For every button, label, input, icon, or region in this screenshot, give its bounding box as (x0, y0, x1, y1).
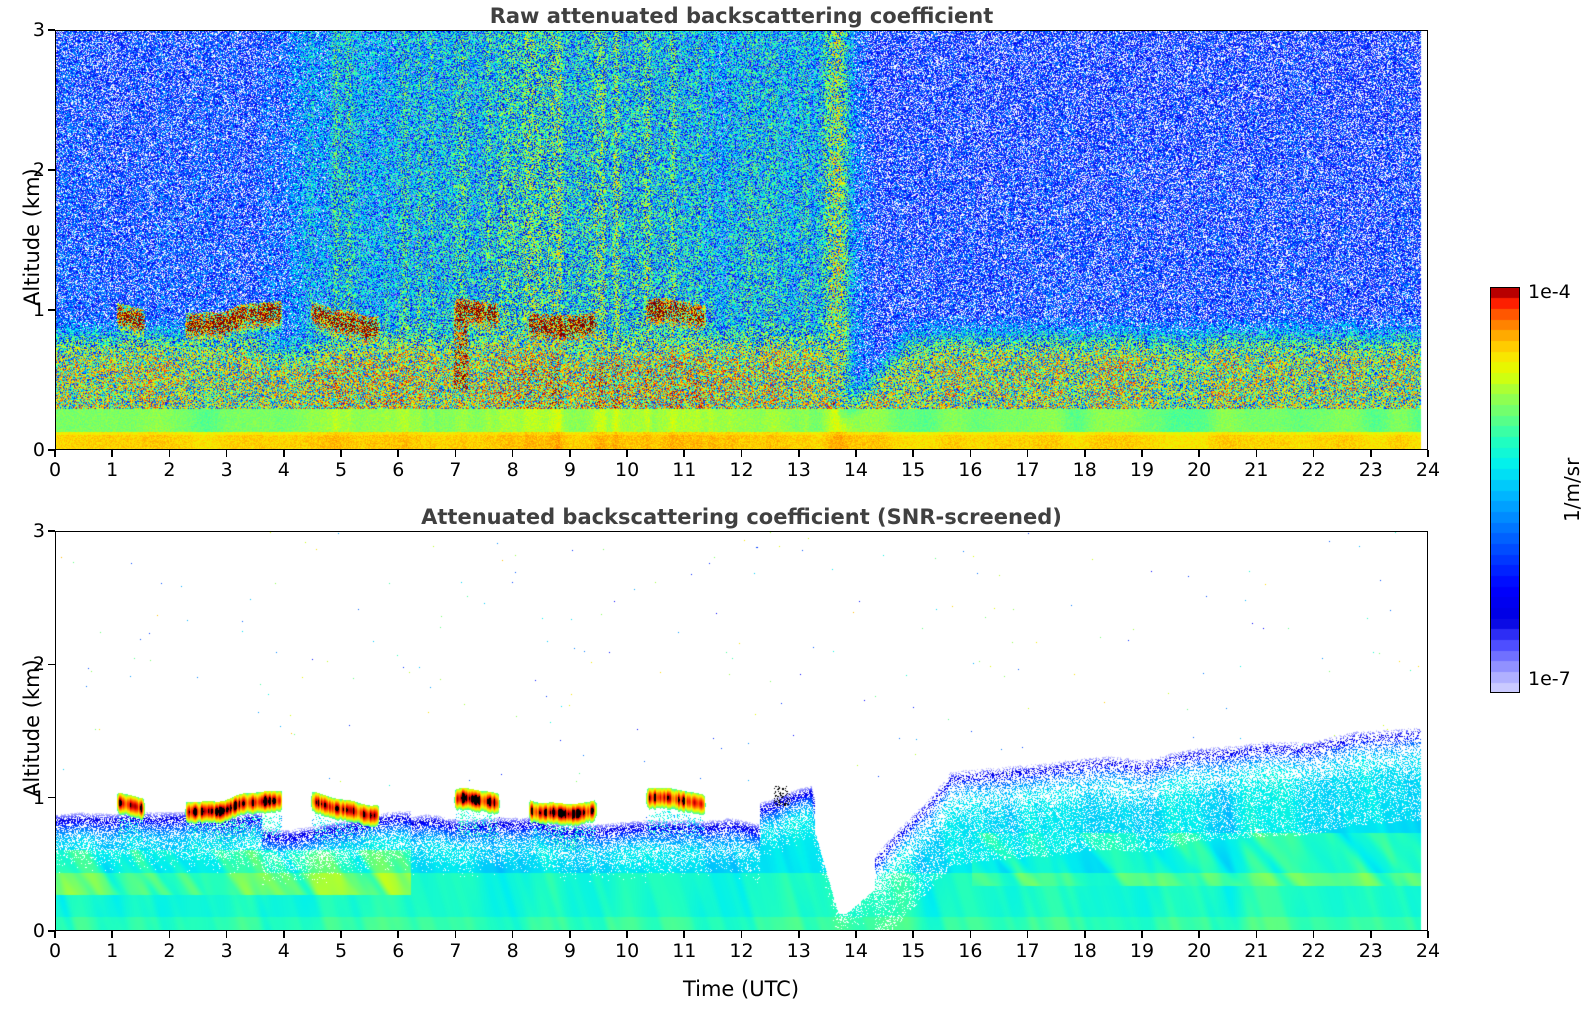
x-tick-mark (1313, 450, 1315, 457)
x-tick-mark (169, 931, 171, 938)
x-tick-label: 8 (507, 459, 519, 481)
y-tick-label: 0 (17, 439, 45, 461)
x-tick-label: 7 (449, 459, 461, 481)
colorbar-tick-min: 1e-7 (1528, 668, 1571, 690)
x-tick-label: 4 (278, 459, 290, 481)
plot-area-raw[interactable] (55, 30, 1428, 450)
x-tick-mark (111, 450, 113, 457)
x-tick-label: 12 (729, 459, 753, 481)
x-tick-mark (111, 931, 113, 938)
x-tick-mark (683, 450, 685, 457)
x-tick-label: 11 (672, 940, 696, 962)
y-tick-mark (48, 29, 55, 31)
x-tick-mark (1198, 450, 1200, 457)
x-tick-label: 1 (106, 459, 118, 481)
colorbar-label: 1/m/sr (1560, 458, 1584, 522)
y-tick-label: 0 (17, 920, 45, 942)
x-tick-mark (1141, 931, 1143, 938)
x-tick-label: 14 (844, 459, 868, 481)
x-tick-mark (512, 450, 514, 457)
x-tick-mark (1027, 450, 1029, 457)
x-tick-mark (970, 450, 972, 457)
x-tick-mark (912, 450, 914, 457)
x-tick-label: 15 (901, 459, 925, 481)
heatmap-raw (56, 31, 1428, 450)
x-tick-mark (54, 931, 56, 938)
panel-title-raw: Raw attenuated backscattering coefficien… (55, 4, 1428, 28)
x-tick-label: 1 (106, 940, 118, 962)
x-tick-label: 5 (335, 459, 347, 481)
x-tick-label: 21 (1244, 459, 1268, 481)
x-tick-mark (340, 931, 342, 938)
y-tick-mark (48, 309, 55, 311)
x-tick-mark (1370, 931, 1372, 938)
x-tick-label: 6 (392, 459, 404, 481)
x-tick-label: 18 (1073, 940, 1097, 962)
y-tick-mark (48, 664, 55, 666)
x-tick-label: 4 (278, 940, 290, 962)
x-tick-mark (912, 931, 914, 938)
x-tick-label: 12 (729, 940, 753, 962)
x-tick-mark (1427, 931, 1429, 938)
y-tick-mark (48, 930, 55, 932)
x-tick-label: 19 (1130, 459, 1154, 481)
colorbar[interactable] (1490, 287, 1520, 693)
y-tick-label: 3 (17, 520, 45, 542)
x-tick-mark (1084, 450, 1086, 457)
colorbar-tick-max: 1e-4 (1528, 281, 1571, 303)
x-tick-mark (1256, 931, 1258, 938)
x-tick-label: 24 (1416, 459, 1440, 481)
x-tick-mark (741, 931, 743, 938)
y-tick-mark (48, 449, 55, 451)
x-tick-mark (683, 931, 685, 938)
x-tick-label: 13 (787, 940, 811, 962)
plot-area-screened[interactable] (55, 531, 1428, 931)
y-tick-mark (48, 169, 55, 171)
x-tick-label: 9 (564, 940, 576, 962)
x-tick-label: 17 (1015, 940, 1039, 962)
x-tick-mark (226, 450, 228, 457)
x-tick-label: 24 (1416, 940, 1440, 962)
x-tick-mark (798, 450, 800, 457)
ylabel-screened: Altitude (km) (20, 659, 44, 797)
x-tick-mark (626, 931, 628, 938)
x-tick-label: 21 (1244, 940, 1268, 962)
x-tick-mark (569, 931, 571, 938)
xlabel-time: Time (UTC) (683, 977, 799, 1001)
x-tick-label: 14 (844, 940, 868, 962)
x-tick-label: 16 (958, 940, 982, 962)
y-tick-label: 3 (17, 19, 45, 41)
x-tick-mark (970, 931, 972, 938)
x-tick-mark (283, 450, 285, 457)
x-tick-mark (741, 450, 743, 457)
x-tick-mark (569, 450, 571, 457)
x-tick-label: 2 (163, 459, 175, 481)
x-tick-mark (1084, 931, 1086, 938)
x-tick-label: 22 (1301, 940, 1325, 962)
x-tick-mark (1027, 931, 1029, 938)
x-tick-mark (1198, 931, 1200, 938)
x-tick-label: 6 (392, 940, 404, 962)
panel-title-screened: Attenuated backscattering coefficient (S… (55, 505, 1428, 529)
x-tick-mark (1427, 450, 1429, 457)
x-tick-label: 13 (787, 459, 811, 481)
x-tick-label: 5 (335, 940, 347, 962)
x-tick-label: 22 (1301, 459, 1325, 481)
x-tick-label: 0 (49, 459, 61, 481)
figure-canvas: Raw attenuated backscattering coefficien… (0, 0, 1595, 1020)
x-tick-label: 19 (1130, 940, 1154, 962)
y-tick-mark (48, 530, 55, 532)
x-tick-label: 23 (1359, 940, 1383, 962)
heatmap-screened (56, 532, 1428, 931)
x-tick-mark (169, 450, 171, 457)
x-tick-label: 3 (221, 459, 233, 481)
x-tick-mark (455, 450, 457, 457)
x-tick-label: 20 (1187, 940, 1211, 962)
x-tick-label: 20 (1187, 459, 1211, 481)
x-tick-label: 18 (1073, 459, 1097, 481)
x-tick-mark (455, 931, 457, 938)
x-tick-label: 11 (672, 459, 696, 481)
x-tick-label: 2 (163, 940, 175, 962)
x-tick-mark (798, 931, 800, 938)
x-tick-label: 9 (564, 459, 576, 481)
x-tick-label: 23 (1359, 459, 1383, 481)
ylabel-raw: Altitude (km) (20, 168, 44, 306)
x-tick-label: 17 (1015, 459, 1039, 481)
x-tick-label: 3 (221, 940, 233, 962)
x-tick-mark (1370, 450, 1372, 457)
x-tick-mark (1141, 450, 1143, 457)
x-tick-mark (855, 450, 857, 457)
x-tick-label: 16 (958, 459, 982, 481)
colorbar-gradient (1491, 288, 1520, 693)
x-tick-mark (1256, 450, 1258, 457)
x-tick-label: 10 (615, 459, 639, 481)
x-tick-label: 0 (49, 940, 61, 962)
x-tick-mark (1313, 931, 1315, 938)
x-tick-mark (397, 931, 399, 938)
x-tick-label: 7 (449, 940, 461, 962)
x-tick-label: 10 (615, 940, 639, 962)
x-tick-label: 8 (507, 940, 519, 962)
x-tick-mark (226, 931, 228, 938)
x-tick-mark (512, 931, 514, 938)
x-tick-mark (54, 450, 56, 457)
y-tick-mark (48, 797, 55, 799)
x-tick-mark (340, 450, 342, 457)
x-tick-mark (626, 450, 628, 457)
x-tick-mark (283, 931, 285, 938)
x-tick-label: 15 (901, 940, 925, 962)
x-tick-mark (397, 450, 399, 457)
x-tick-mark (855, 931, 857, 938)
